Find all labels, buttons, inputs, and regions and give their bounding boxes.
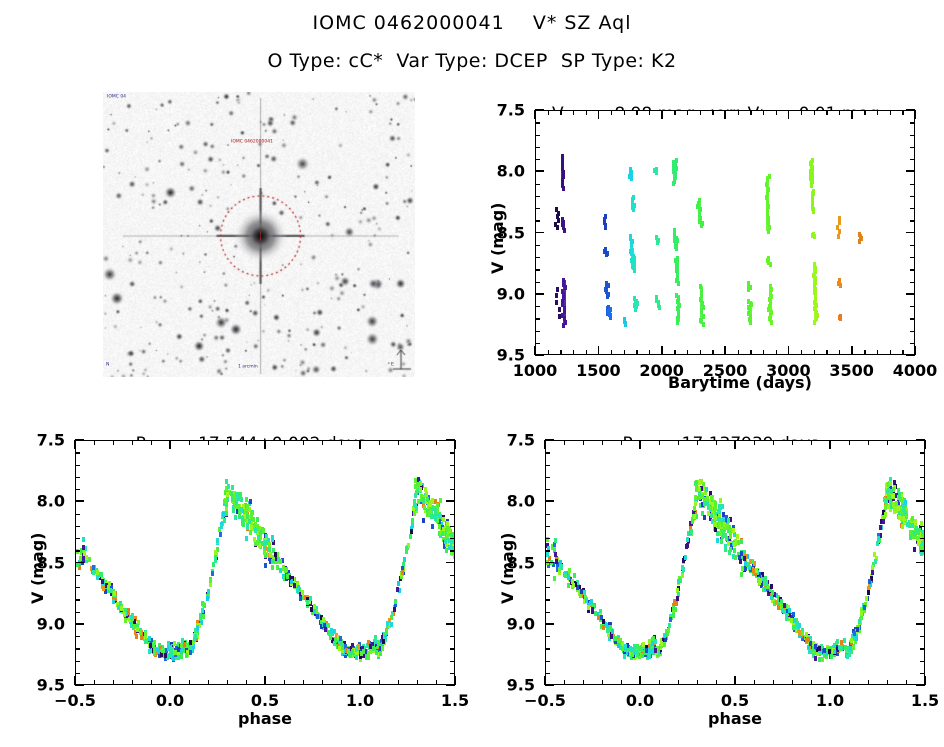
data-point xyxy=(727,541,730,546)
data-point xyxy=(438,513,441,518)
data-point xyxy=(410,529,413,534)
data-point xyxy=(241,516,244,521)
data-point xyxy=(833,649,836,654)
x-minor-tick xyxy=(826,110,827,115)
y-tick xyxy=(75,439,84,441)
x-minor-tick xyxy=(738,110,739,115)
data-point xyxy=(394,599,397,604)
data-point xyxy=(201,608,204,613)
data-point xyxy=(211,571,214,576)
y-minor-tick xyxy=(545,526,550,527)
x-minor-tick xyxy=(868,680,869,685)
x-minor-tick xyxy=(773,440,774,445)
phase-vsx-xaxis-label: phase xyxy=(708,709,762,728)
data-point xyxy=(415,490,418,495)
y-minor-tick xyxy=(535,269,540,270)
data-point xyxy=(675,246,678,251)
y-minor-tick xyxy=(545,599,550,600)
data-point xyxy=(719,498,722,503)
data-point xyxy=(902,507,905,512)
data-point xyxy=(434,508,437,513)
y-minor-tick xyxy=(75,636,80,637)
x-minor-tick xyxy=(887,680,888,685)
phase-vsx-plot-area xyxy=(546,441,924,684)
data-point xyxy=(723,522,726,527)
x-minor-tick xyxy=(436,680,437,685)
dss-finding-chart[interactable]: IOMC 04 IOMC 0462000041 1 arcmin N E xyxy=(103,92,415,377)
data-point xyxy=(144,631,147,636)
data-point xyxy=(382,639,385,644)
data-point xyxy=(133,624,136,629)
data-point xyxy=(610,634,613,639)
data-point xyxy=(245,497,248,502)
y-tick xyxy=(545,684,554,686)
data-point xyxy=(654,648,657,653)
data-point xyxy=(602,619,605,624)
data-point xyxy=(877,536,880,541)
x-minor-tick xyxy=(716,680,717,685)
y-minor-tick xyxy=(910,208,915,209)
y-minor-tick xyxy=(545,477,550,478)
data-point xyxy=(892,487,895,492)
x-tick xyxy=(598,346,600,355)
data-point xyxy=(92,570,95,575)
data-point xyxy=(170,648,173,653)
data-point xyxy=(290,579,293,584)
data-point xyxy=(897,506,900,511)
y-tick-label: 7.5 xyxy=(497,101,525,120)
x-minor-tick xyxy=(678,440,679,445)
x-minor-tick xyxy=(750,350,751,355)
data-point xyxy=(411,518,414,523)
data-point xyxy=(813,234,816,239)
data-point xyxy=(414,484,417,489)
data-point xyxy=(606,294,609,299)
data-point xyxy=(720,539,723,544)
x-minor-tick xyxy=(890,110,891,115)
timeseries-plot-area xyxy=(536,111,914,354)
data-point xyxy=(567,583,570,588)
data-point xyxy=(206,596,209,601)
data-point xyxy=(609,315,612,320)
x-minor-tick xyxy=(750,110,751,115)
data-point xyxy=(113,591,116,596)
x-minor-tick xyxy=(246,680,247,685)
data-point xyxy=(868,579,871,584)
data-point xyxy=(362,649,365,654)
data-point xyxy=(839,283,842,288)
data-point xyxy=(739,559,742,564)
data-point xyxy=(254,528,257,533)
x-minor-tick xyxy=(678,680,679,685)
x-minor-tick xyxy=(887,440,888,445)
data-point xyxy=(890,489,893,494)
data-point xyxy=(271,565,274,570)
data-point xyxy=(225,479,228,484)
x-minor-tick xyxy=(776,350,777,355)
y-tick xyxy=(545,439,554,441)
data-point xyxy=(604,225,607,230)
data-point xyxy=(813,264,816,289)
data-point xyxy=(567,575,570,580)
data-point xyxy=(694,501,697,506)
y-tick-label: 7.5 xyxy=(37,431,65,450)
data-point xyxy=(597,615,600,620)
data-point xyxy=(605,252,608,257)
data-point xyxy=(718,504,721,509)
data-point xyxy=(677,295,680,322)
data-point xyxy=(793,618,796,623)
data-point xyxy=(207,589,210,594)
y-tick xyxy=(446,562,455,564)
x-minor-tick xyxy=(839,350,840,355)
data-point xyxy=(434,516,437,521)
data-point xyxy=(764,576,767,581)
data-point xyxy=(590,599,593,604)
data-point xyxy=(716,538,719,543)
data-point xyxy=(96,575,99,580)
data-point xyxy=(769,262,772,267)
y-minor-tick xyxy=(920,514,925,515)
y-tick xyxy=(906,354,915,356)
data-point xyxy=(636,644,639,649)
x-tick xyxy=(169,676,171,685)
data-point xyxy=(556,287,559,292)
data-point xyxy=(419,487,422,492)
x-minor-tick xyxy=(763,350,764,355)
data-point xyxy=(732,528,735,533)
data-point xyxy=(329,635,332,640)
data-point xyxy=(274,552,277,557)
x-minor-tick xyxy=(436,440,437,445)
timeseries-plot-frame[interactable] xyxy=(535,110,915,355)
data-point xyxy=(673,160,676,183)
y-minor-tick xyxy=(535,343,540,344)
y-minor-tick xyxy=(450,648,455,649)
y-minor-tick xyxy=(535,245,540,246)
x-tick xyxy=(829,676,831,685)
data-point xyxy=(700,286,703,324)
data-point xyxy=(703,515,706,520)
phase-vsx-yaxis-label: V (mag) xyxy=(498,533,517,605)
phase-omc-panel: POMC = 17.144±0.002 days −0.50.00.51.01.… xyxy=(10,414,470,747)
data-point xyxy=(561,156,564,188)
y-minor-tick xyxy=(75,587,80,588)
data-point xyxy=(222,512,225,517)
data-point xyxy=(374,635,377,640)
data-point xyxy=(351,649,354,654)
y-tick-label: 9.0 xyxy=(497,284,525,303)
data-point xyxy=(201,601,204,606)
y-minor-tick xyxy=(545,465,550,466)
x-tick xyxy=(724,346,726,355)
data-point xyxy=(748,565,751,570)
x-minor-tick xyxy=(659,440,660,445)
data-point xyxy=(139,630,142,635)
data-point xyxy=(780,599,783,604)
data-point xyxy=(740,572,743,577)
y-minor-tick xyxy=(450,465,455,466)
y-minor-tick xyxy=(75,489,80,490)
y-minor-tick xyxy=(535,135,540,136)
data-point xyxy=(560,564,563,569)
y-tick xyxy=(916,439,925,441)
data-point xyxy=(164,653,167,658)
x-minor-tick xyxy=(113,440,114,445)
x-minor-tick xyxy=(621,440,622,445)
data-point xyxy=(850,638,853,643)
data-point xyxy=(758,580,761,585)
data-point xyxy=(401,570,404,575)
y-tick xyxy=(545,562,554,564)
data-point xyxy=(860,611,863,616)
y-minor-tick xyxy=(450,550,455,551)
data-point xyxy=(852,645,855,650)
data-point xyxy=(306,600,309,605)
data-point xyxy=(909,535,912,540)
data-point xyxy=(580,589,583,594)
y-tick-label: 8.0 xyxy=(37,492,65,511)
y-minor-tick xyxy=(910,184,915,185)
data-point xyxy=(658,305,661,310)
data-point xyxy=(766,176,769,231)
data-point xyxy=(246,525,249,530)
y-minor-tick xyxy=(910,331,915,332)
data-point xyxy=(684,555,687,560)
data-point xyxy=(153,647,156,652)
y-minor-tick xyxy=(450,661,455,662)
data-point xyxy=(426,497,429,502)
data-point xyxy=(889,481,892,486)
x-minor-tick xyxy=(864,350,865,355)
phase-omc-plot-area xyxy=(76,441,454,684)
y-minor-tick xyxy=(920,477,925,478)
timeseries-panel: Vmed = 8.98 mag <err_V> = 0.01 mag 10001… xyxy=(470,84,940,404)
y-minor-tick xyxy=(910,220,915,221)
data-point xyxy=(417,482,420,487)
x-tick xyxy=(829,440,831,449)
x-tick-label: 0.5 xyxy=(251,691,279,710)
data-point xyxy=(733,548,736,553)
data-point xyxy=(107,585,110,590)
x-minor-tick xyxy=(687,350,688,355)
finding-chart-canvas xyxy=(103,92,415,377)
data-point xyxy=(224,499,227,504)
y-minor-tick xyxy=(535,147,540,148)
data-point xyxy=(619,638,622,643)
x-minor-tick xyxy=(849,680,850,685)
data-point xyxy=(617,643,620,648)
data-point xyxy=(585,598,588,603)
data-point xyxy=(693,506,696,511)
data-point xyxy=(840,640,843,645)
x-minor-tick xyxy=(611,110,612,115)
data-point xyxy=(286,574,289,579)
data-point xyxy=(865,596,868,601)
data-point xyxy=(124,618,127,623)
x-minor-tick xyxy=(284,440,285,445)
data-point xyxy=(917,530,920,535)
data-point xyxy=(727,518,730,523)
data-point xyxy=(140,635,143,640)
data-point xyxy=(82,545,85,550)
x-minor-tick xyxy=(602,680,603,685)
phase-omc-plot-frame[interactable] xyxy=(75,440,455,685)
data-point xyxy=(193,637,196,642)
data-point xyxy=(564,573,567,578)
data-point xyxy=(913,547,916,552)
y-minor-tick xyxy=(910,306,915,307)
data-point xyxy=(714,506,717,511)
y-tick xyxy=(75,684,84,686)
data-point xyxy=(887,488,890,493)
data-point xyxy=(148,636,151,641)
y-minor-tick xyxy=(535,220,540,221)
y-minor-tick xyxy=(920,587,925,588)
y-minor-tick xyxy=(75,661,80,662)
x-tick xyxy=(359,440,361,449)
x-minor-tick xyxy=(712,350,713,355)
data-point xyxy=(556,225,559,230)
data-point xyxy=(254,522,257,527)
data-point xyxy=(898,515,901,520)
x-minor-tick xyxy=(341,440,342,445)
x-minor-tick xyxy=(849,440,850,445)
y-minor-tick xyxy=(75,465,80,466)
x-minor-tick xyxy=(877,350,878,355)
data-point xyxy=(710,495,713,500)
x-tick xyxy=(359,676,361,685)
phase-vsx-plot-frame[interactable] xyxy=(545,440,925,685)
data-point xyxy=(167,641,170,646)
y-minor-tick xyxy=(535,257,540,258)
x-minor-tick xyxy=(132,440,133,445)
y-minor-tick xyxy=(910,196,915,197)
y-minor-tick xyxy=(920,465,925,466)
data-point xyxy=(555,300,558,305)
data-point xyxy=(602,625,605,630)
data-point xyxy=(777,605,780,610)
y-tick xyxy=(446,623,455,625)
data-point xyxy=(656,646,659,651)
y-tick-label: 9.5 xyxy=(37,676,65,695)
x-minor-tick xyxy=(189,680,190,685)
y-minor-tick xyxy=(920,550,925,551)
data-point xyxy=(453,554,454,559)
data-point xyxy=(82,537,85,542)
data-point xyxy=(635,304,638,309)
x-minor-tick xyxy=(611,350,612,355)
x-minor-tick xyxy=(303,440,304,445)
object-types-line: O Type: cC* Var Type: DCEP SP Type: K2 xyxy=(0,50,944,72)
y-minor-tick xyxy=(545,550,550,551)
y-minor-tick xyxy=(920,673,925,674)
data-point xyxy=(256,540,259,545)
data-point xyxy=(234,515,237,520)
y-minor-tick xyxy=(545,648,550,649)
y-minor-tick xyxy=(535,122,540,123)
data-point xyxy=(686,537,689,542)
y-minor-tick xyxy=(910,159,915,160)
y-tick xyxy=(446,500,455,502)
y-minor-tick xyxy=(920,538,925,539)
finding-chart-north-label: N xyxy=(106,362,109,367)
y-tick xyxy=(916,500,925,502)
y-minor-tick xyxy=(535,159,540,160)
x-tick-label: 1.5 xyxy=(911,691,939,710)
data-point xyxy=(301,590,304,595)
x-minor-tick xyxy=(792,440,793,445)
x-minor-tick xyxy=(826,350,827,355)
data-point xyxy=(630,176,633,181)
data-point xyxy=(333,641,336,646)
data-point xyxy=(386,621,389,626)
data-point xyxy=(781,608,784,613)
data-point xyxy=(856,627,859,632)
y-tick xyxy=(916,562,925,564)
data-point xyxy=(839,316,842,321)
x-minor-tick xyxy=(700,110,701,115)
data-point xyxy=(814,289,817,322)
data-point xyxy=(227,484,230,489)
data-point xyxy=(811,191,814,212)
data-point xyxy=(438,524,441,529)
data-point xyxy=(130,615,133,620)
y-tick xyxy=(906,109,915,111)
data-point xyxy=(209,582,212,587)
data-point xyxy=(177,655,180,660)
data-point xyxy=(801,631,804,636)
x-minor-tick xyxy=(624,350,625,355)
y-minor-tick xyxy=(910,343,915,344)
data-point xyxy=(452,532,454,537)
y-minor-tick xyxy=(75,612,80,613)
data-point xyxy=(330,628,333,633)
data-point xyxy=(747,287,750,292)
data-point xyxy=(709,505,712,510)
data-point xyxy=(264,563,267,568)
data-point xyxy=(441,531,444,536)
data-point xyxy=(694,495,697,500)
y-minor-tick xyxy=(920,489,925,490)
data-point xyxy=(844,645,847,650)
y-tick xyxy=(75,623,84,625)
data-point xyxy=(413,511,416,516)
x-tick-label: 4000 xyxy=(893,361,938,380)
y-minor-tick xyxy=(920,599,925,600)
x-minor-tick xyxy=(94,680,95,685)
x-minor-tick xyxy=(674,350,675,355)
x-tick xyxy=(639,676,641,685)
x-tick xyxy=(544,440,546,449)
data-point xyxy=(558,314,561,319)
data-point xyxy=(446,526,449,531)
data-point xyxy=(102,586,105,591)
y-tick-label: 8.0 xyxy=(507,492,535,511)
y-tick-label: 7.5 xyxy=(507,431,535,450)
data-point xyxy=(341,645,344,650)
data-point xyxy=(810,160,813,185)
x-minor-tick xyxy=(738,350,739,355)
x-tick xyxy=(639,440,641,449)
data-point xyxy=(843,638,846,643)
data-point xyxy=(641,653,644,658)
data-point xyxy=(250,513,253,518)
data-point xyxy=(884,505,887,510)
data-point xyxy=(390,622,393,627)
y-minor-tick xyxy=(910,269,915,270)
x-tick xyxy=(534,110,536,119)
